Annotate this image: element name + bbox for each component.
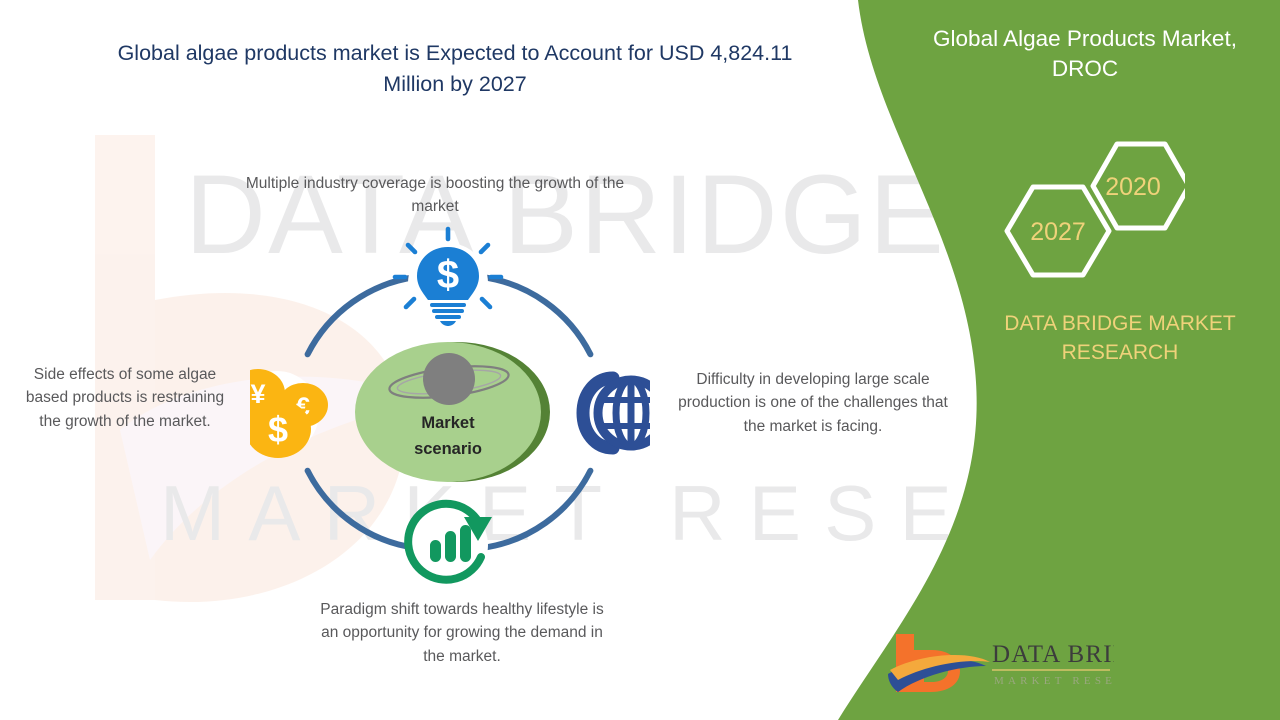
callout-opportunity: Paradigm shift towards healthy lifestyle… <box>312 598 612 668</box>
node-driver[interactable]: $ <box>395 229 501 326</box>
logo-secondary-text: MARKET RESEARCH <box>994 675 1114 687</box>
node-restraint[interactable]: ¥ € $ <box>250 369 328 458</box>
node-challenge[interactable] <box>582 373 650 453</box>
infographic-canvas: DATA BRIDGE MARKET RESEARCH Global Algae… <box>0 0 1280 720</box>
logo-primary-text: DATA BRIDGE <box>992 641 1114 668</box>
company-logo: DATA BRIDGE MARKET RESEARCH <box>884 626 1114 704</box>
hexagon-group: 2027 2020 <box>985 130 1185 280</box>
svg-text:$: $ <box>268 409 288 450</box>
callout-driver: Multiple industry coverage is boosting t… <box>240 172 630 219</box>
logo-b-mark-icon <box>888 634 990 692</box>
callout-restraint: Side effects of some algae based product… <box>20 363 230 433</box>
page-title: Global algae products market is Expected… <box>105 38 805 99</box>
hexagon-2020-label: 2020 <box>1105 173 1161 201</box>
center-label-line1: Market <box>421 414 475 432</box>
callout-challenge: Difficulty in developing large scale pro… <box>672 368 954 438</box>
svg-text:$: $ <box>437 253 459 297</box>
center-label-line2: scenario <box>414 440 482 458</box>
brand-name: DATA BRIDGE MARKET RESEARCH <box>960 310 1280 368</box>
droc-diagram: Market scenario <box>250 225 650 600</box>
node-opportunity[interactable] <box>408 504 492 585</box>
panel-title: Global Algae Products Market, DROC <box>905 24 1265 83</box>
hexagon-2027-label: 2027 <box>1030 218 1086 246</box>
